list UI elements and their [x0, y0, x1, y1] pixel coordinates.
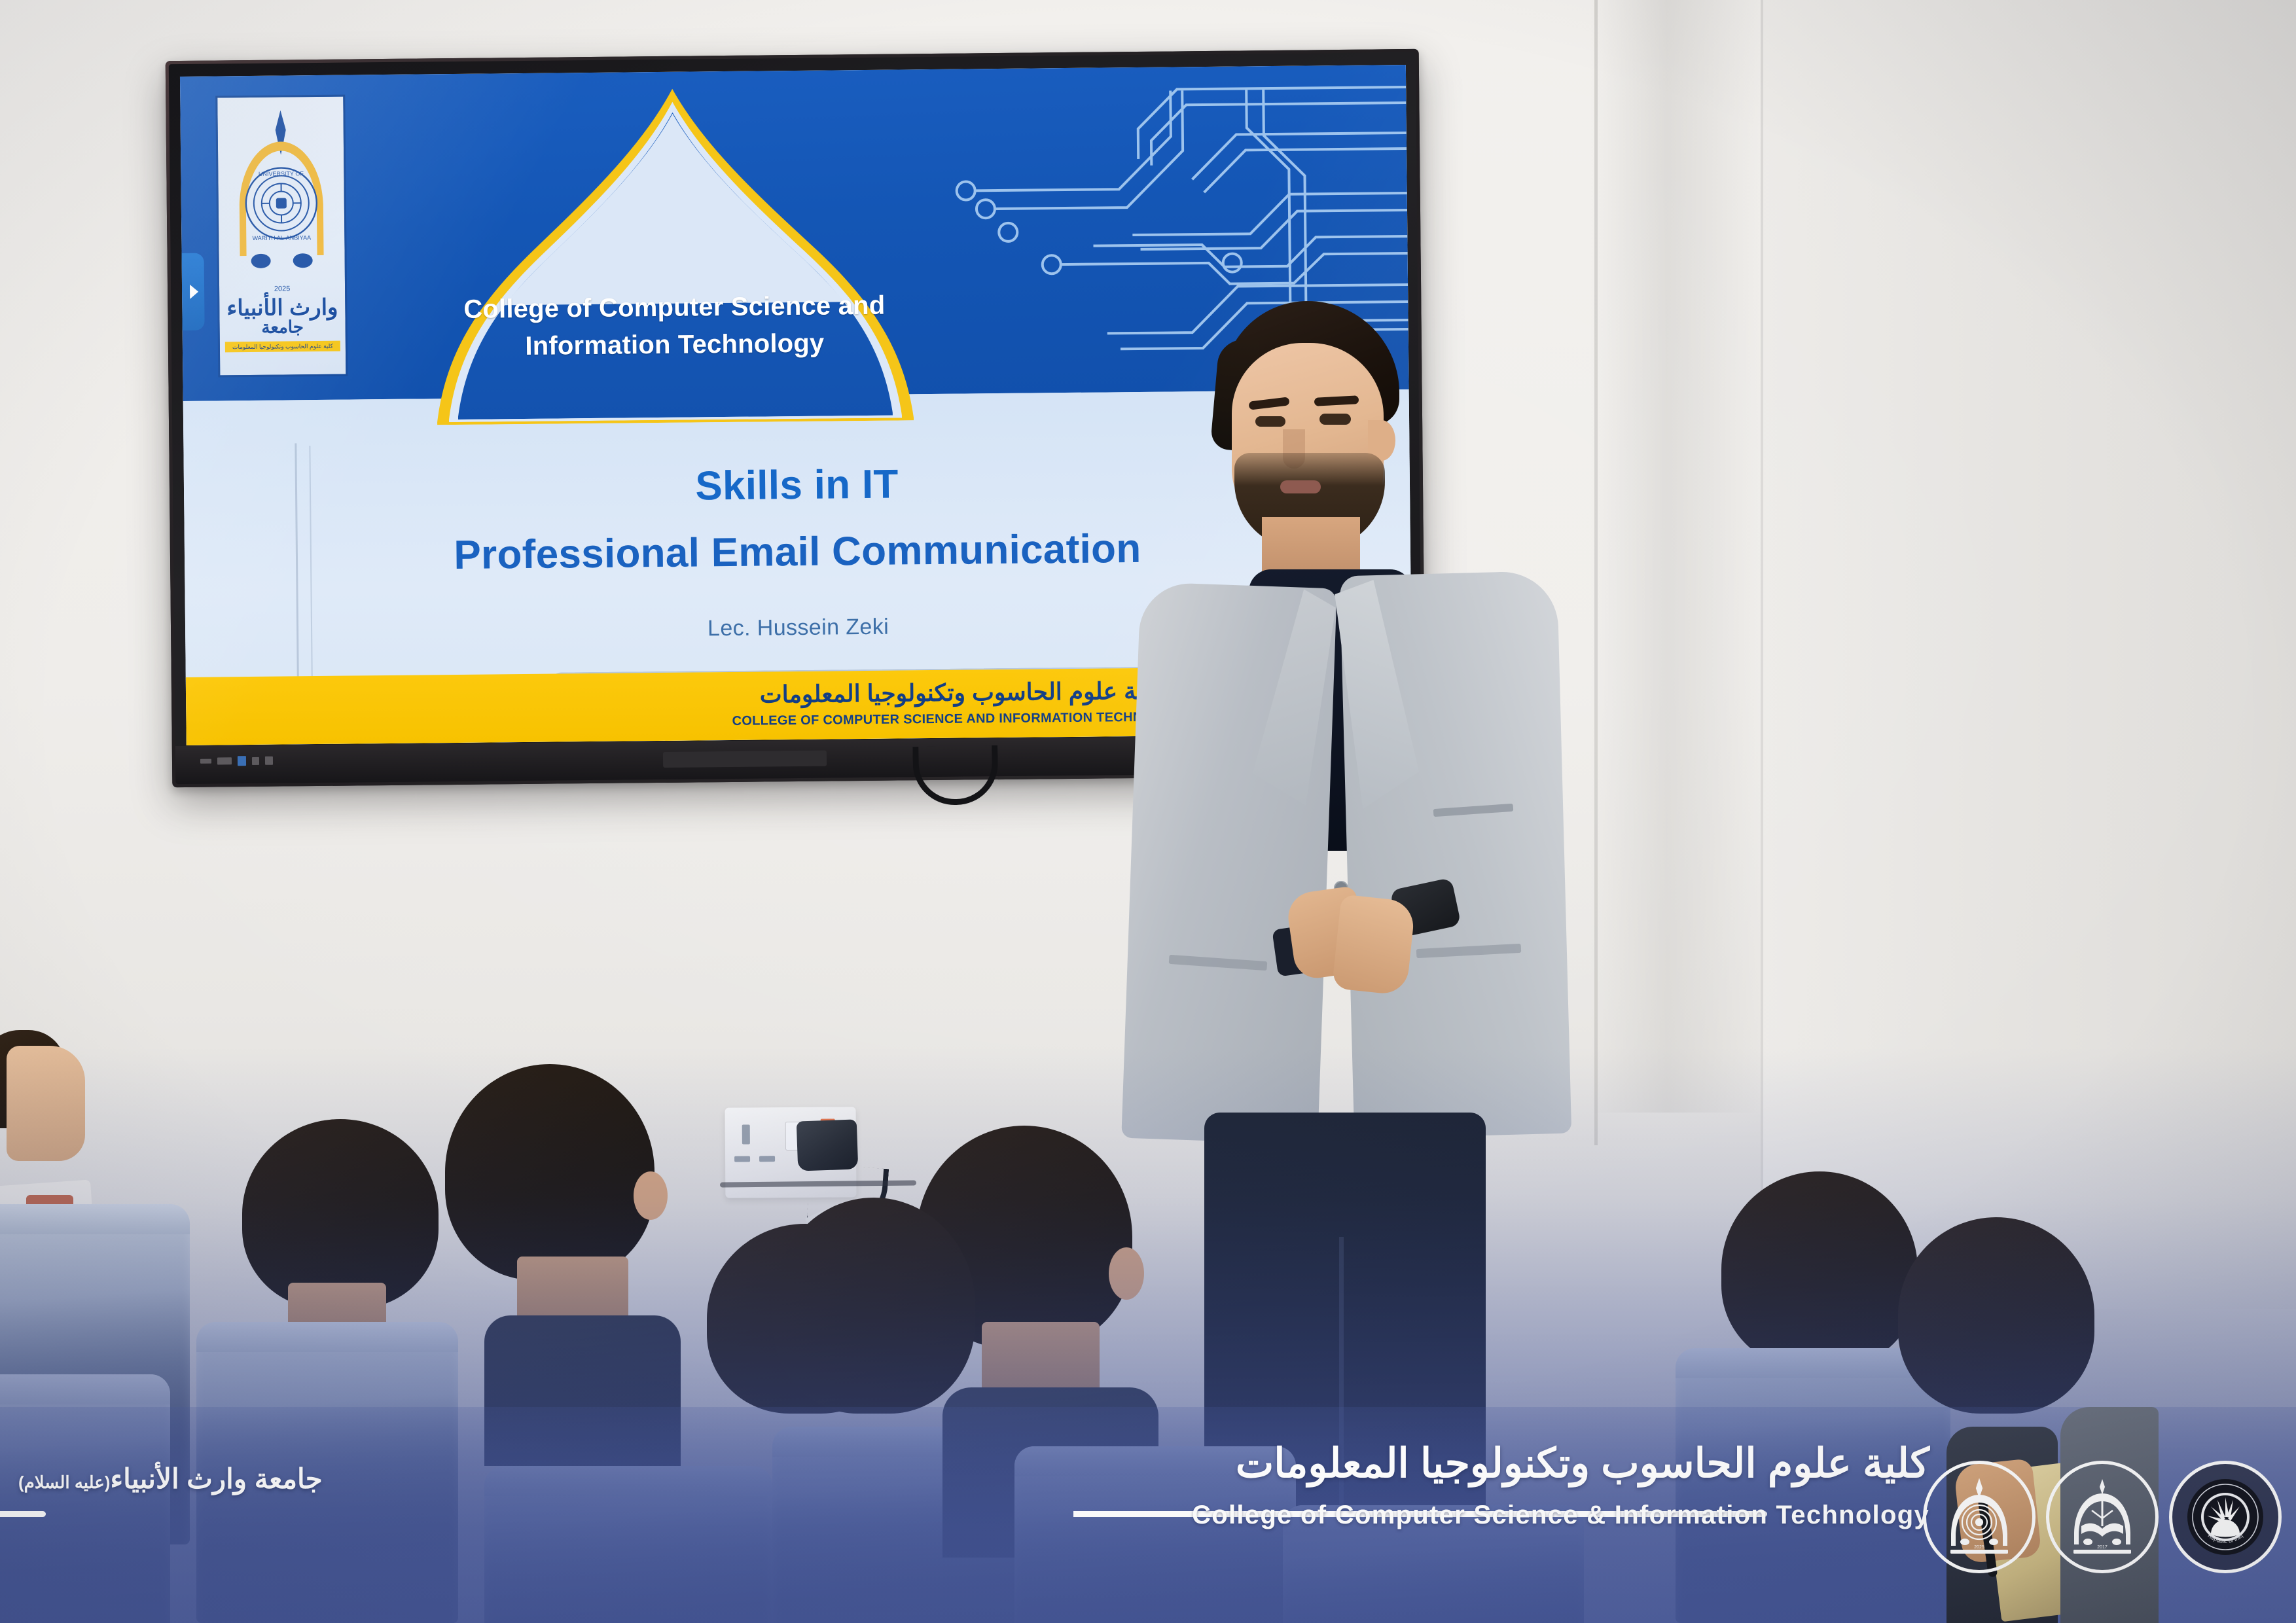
- svg-text:WARITH AL-ANBIYAA: WARITH AL-ANBIYAA: [253, 234, 312, 241]
- port-misc-icon: [265, 757, 273, 765]
- presenter-hand-right: [1332, 894, 1416, 995]
- audience-person-3-shoulders: [484, 1315, 681, 1466]
- audience-person-2-head: [242, 1119, 439, 1309]
- port-hdmi-icon: [217, 757, 232, 764]
- svg-text:2025: 2025: [274, 285, 291, 293]
- screen-side-handle[interactable]: [182, 253, 205, 330]
- audience-face: [7, 1046, 85, 1161]
- university-seal-icon: UNIVERSITY OF WARITH AL-ANBIYAA 2025: [223, 105, 340, 302]
- slide-header-text: College of Computer Science and Informat…: [445, 287, 904, 365]
- chair-3: [484, 1466, 772, 1623]
- overlay-university-arabic-honorific: (عليه السلام): [18, 1472, 110, 1492]
- emblem-band-text: كلية علوم الحاسوب وتكنولوجيا المعلومات: [225, 341, 340, 353]
- port-aux-icon: [252, 757, 259, 764]
- overlay-college-arabic: كلية علوم الحاسوب وتكنولوجيا المعلومات: [1236, 1439, 1929, 1487]
- college-seal-logo: 2025: [1923, 1461, 2036, 1573]
- audience-person-5-ear: [1109, 1247, 1144, 1300]
- overlay-college-english: College of Computer Science & Informatio…: [1192, 1501, 1929, 1530]
- svg-text:2017: 2017: [2097, 1545, 2108, 1550]
- mosque-arch-graphic: College of Computer Science and Informat…: [397, 84, 950, 428]
- presenter-mouth: [1280, 480, 1321, 493]
- presenter-eye-left: [1255, 416, 1285, 427]
- chair-row-front-1: [0, 1374, 170, 1623]
- overlay-university-arabic-main: جامعة وارث الأنبياء: [110, 1463, 322, 1494]
- display-ports: [200, 756, 273, 766]
- overlay-university-arabic: جامعة وارث الأنبياء(عليه السلام): [18, 1463, 323, 1495]
- emblem-arabic-line2: جامعة: [261, 317, 304, 338]
- ir-sensor-strip: [663, 751, 827, 768]
- chevron-right-icon: [190, 285, 198, 299]
- college-seal-icon: 2025: [1939, 1476, 2020, 1558]
- audience-person-3-head: [445, 1064, 655, 1280]
- slide-header-line1: College of Computer Science and: [445, 287, 904, 329]
- audience-person-3-ear: [634, 1171, 668, 1220]
- logo-row: 2025 2017: [1923, 1461, 2282, 1573]
- audience-person-7-head: [1721, 1171, 1918, 1368]
- svg-text:UNIVERSITY OF: UNIVERSITY OF: [259, 170, 304, 177]
- ministry-seal-icon: Republic of Iraq: [2185, 1476, 2266, 1558]
- presenter-eye-right: [1319, 414, 1351, 425]
- university-seal-icon: 2017: [2062, 1476, 2143, 1558]
- brand-rule-left: [0, 1511, 46, 1517]
- ministry-seal-logo: Republic of Iraq: [2169, 1461, 2282, 1573]
- audience-person-8-head: [1898, 1217, 2094, 1414]
- port-usb-icon: [200, 759, 211, 764]
- audience-person-6-head: [772, 1198, 975, 1414]
- slide-header-line2: Information Technology: [446, 324, 905, 366]
- arch-upper-light-fill: [417, 105, 929, 306]
- svg-text:2025: 2025: [1974, 1545, 1984, 1550]
- port-power-icon: [238, 756, 246, 766]
- university-seal-logo: 2017: [2046, 1461, 2159, 1573]
- university-emblem: UNIVERSITY OF WARITH AL-ANBIYAA 2025 وار…: [215, 95, 348, 378]
- photo-canvas: College of Computer Science and Informat…: [0, 0, 2296, 1623]
